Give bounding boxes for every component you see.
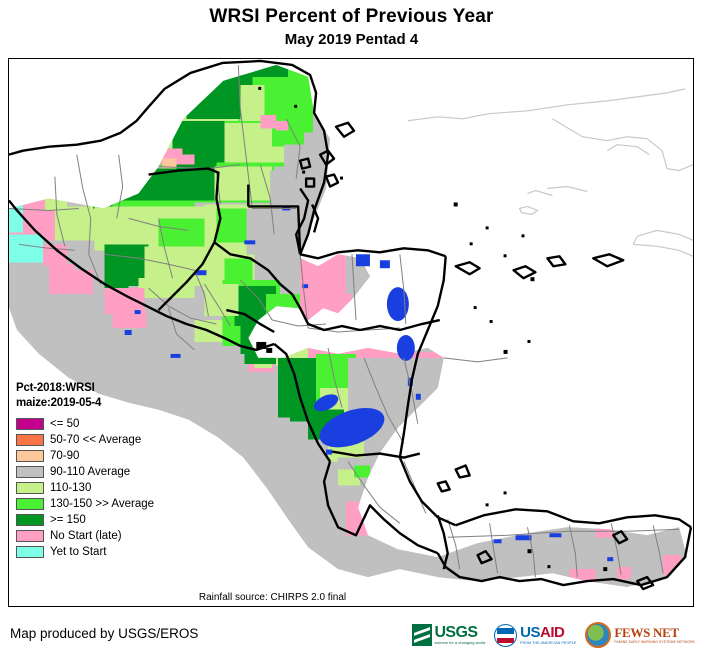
legend-color-swatch (16, 418, 44, 430)
legend-item-label: No Start (late) (50, 530, 122, 542)
legend-item-label: 130-150 >> Average (50, 498, 154, 510)
lagoon-n2 (380, 260, 390, 268)
legend-item: 130-150 >> Average (16, 496, 206, 512)
legend-item-label: <= 50 (50, 418, 79, 430)
legend-color-swatch (16, 434, 44, 446)
usaid-logo: USAID FROM THE AMERICAN PEOPLE (494, 620, 576, 650)
legend-item-label: >= 150 (50, 514, 86, 526)
legend-color-swatch (16, 482, 44, 494)
legend-title-line1: Pct-2018:WRSI (16, 381, 206, 396)
coastal-lagoon (397, 335, 415, 361)
legend-item-label: 70-90 (50, 450, 79, 462)
legend-color-swatch (16, 498, 44, 510)
legend-color-swatch (16, 530, 44, 542)
usgs-logo: USGS science for a changing world (412, 620, 485, 650)
legend-color-swatch (16, 546, 44, 558)
usgs-wave-icon (412, 624, 432, 646)
legend-item: 90-110 Average (16, 464, 206, 480)
usaid-seal-icon (494, 624, 517, 647)
usaid-tagline: FROM THE AMERICAN PEOPLE (520, 640, 576, 646)
page-subtitle: May 2019 Pentad 4 (0, 31, 703, 49)
legend-color-swatch (16, 466, 44, 478)
legend-item-label: Yet to Start (50, 546, 106, 558)
fewsnet-wordmark: FEWS NET (614, 626, 695, 639)
usaid-wordmark-aid: AID (540, 624, 564, 641)
legend-item: 50-70 << Average (16, 432, 206, 448)
usaid-wordmark: USAID (520, 625, 576, 640)
legend-item: Yet to Start (16, 544, 206, 560)
legend-item-label: 90-110 Average (50, 466, 130, 478)
island-dot (530, 277, 534, 281)
legend-item: >= 150 (16, 512, 206, 528)
map-legend: Pct-2018:WRSI maize:2019-05-4 <= 5050-70… (16, 381, 206, 560)
legend-item: <= 50 (16, 416, 206, 432)
logo-bar: USGS science for a changing world USAID … (412, 620, 695, 650)
legend-item-label: 110-130 (50, 482, 91, 494)
legend-item: 70-90 (16, 448, 206, 464)
legend-color-swatch (16, 450, 44, 462)
globe-icon (585, 622, 611, 648)
usgs-wordmark: USGS (434, 625, 485, 640)
usaid-wordmark-us: US (520, 624, 540, 641)
legend-color-swatch (16, 514, 44, 526)
footer-credit: Map produced by USGS/EROS (10, 626, 198, 641)
lagoon-n1 (356, 254, 370, 266)
legend-item: 110-130 (16, 480, 206, 496)
title-block: WRSI Percent of Previous Year May 2019 P… (0, 0, 703, 49)
legend-rows: <= 5050-70 << Average70-9090-110 Average… (16, 416, 206, 560)
legend-title-line2: maize:2019-05-4 (16, 396, 206, 411)
river-seg-1 (244, 240, 255, 244)
usgs-tagline: science for a changing world (434, 640, 485, 646)
page-title: WRSI Percent of Previous Year (0, 6, 703, 28)
rainfall-source-note: Rainfall source: CHIRPS 2.0 final (0, 592, 545, 603)
fewsnet-logo: FEWS NET FAMINE EARLY WARNING SYSTEMS NE… (585, 620, 695, 650)
legend-item-label: 50-70 << Average (50, 434, 141, 446)
legend-item: No Start (late) (16, 528, 206, 544)
fewsnet-tagline: FAMINE EARLY WARNING SYSTEMS NETWORK (614, 639, 695, 645)
